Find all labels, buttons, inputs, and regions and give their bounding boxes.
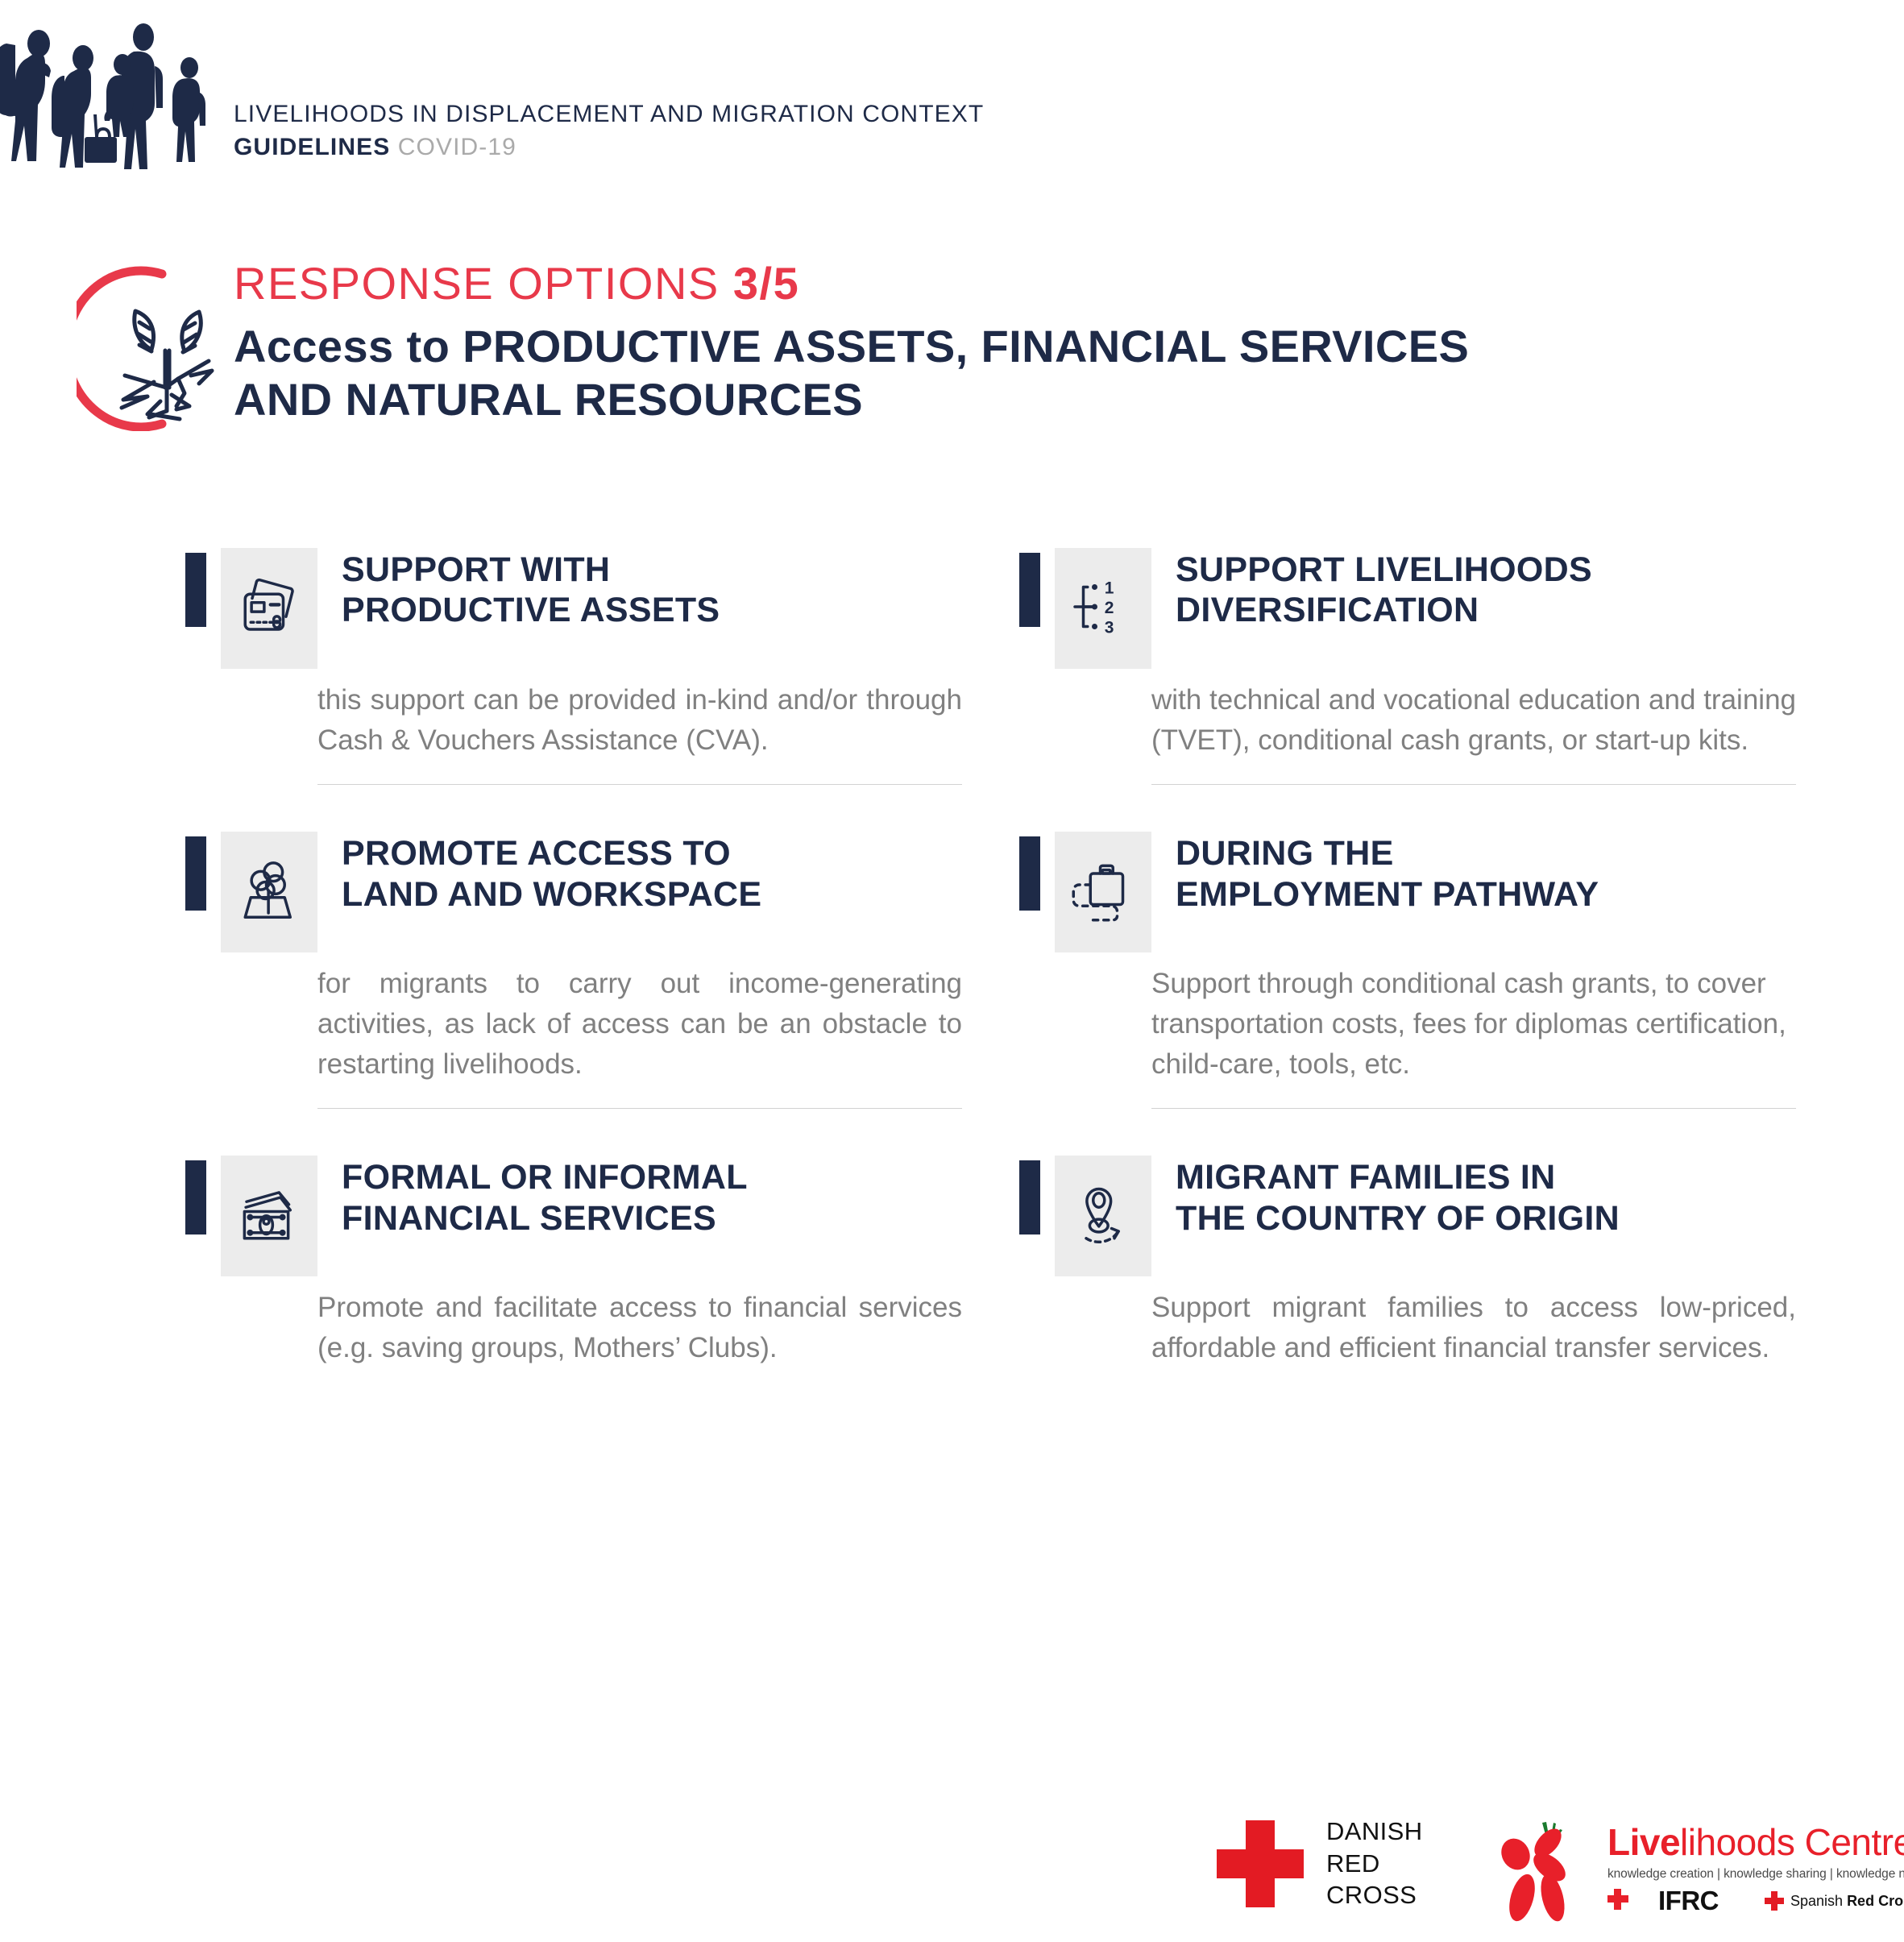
migrant-family-silhouette-icon <box>0 8 209 169</box>
spanish-red-cross-label: Spanish Red Cross <box>1790 1894 1904 1908</box>
page-header: LIVELIHOODS IN DISPLACEMENT AND MIGRATIO… <box>0 0 1904 185</box>
card-title-line-1: DURING THE <box>1176 833 1849 873</box>
card-formal-informal-financial-services: FORMAL OR INFORMAL FINANCIAL SERVICES Pr… <box>185 1156 1015 1367</box>
guidelines-label: GUIDELINES <box>234 134 390 160</box>
covid-label: COVID-19 <box>398 134 516 160</box>
card-title-line-1: PROMOTE ACCESS TO <box>342 833 1015 873</box>
header-guidelines-line: GUIDELINES COVID-19 <box>234 131 984 164</box>
card-icon-box <box>221 1156 317 1276</box>
header-title-block: LIVELIHOODS IN DISPLACEMENT AND MIGRATIO… <box>234 101 984 164</box>
tagline-sep-2: | <box>1827 1867 1836 1881</box>
response-options-kicker: RESPONSE OPTIONS 3/5 <box>234 258 1765 309</box>
accent-bar <box>1019 553 1040 627</box>
tree-on-land-icon <box>235 857 303 928</box>
livelihoods-centre-wordmark: Livelihoods Centre <box>1607 1824 1904 1861</box>
location-pin-arrow-icon <box>1069 1181 1137 1252</box>
card-title-line-2: LAND AND WORKSPACE <box>342 874 1015 915</box>
branching-diagram-123-icon: 1 2 3 <box>1069 573 1137 645</box>
page-footer: DANISH RED CROSS <box>0 1809 1904 1942</box>
red-cross-icon <box>1217 1820 1304 1907</box>
drc-line-1: DANISH <box>1326 1815 1423 1848</box>
card-title: FORMAL OR INFORMAL FINANCIAL SERVICES <box>342 1156 1015 1239</box>
tagline-part-1: knowledge creation <box>1607 1867 1714 1881</box>
tagline-sep-1: | <box>1714 1867 1724 1881</box>
seedling-with-roots-icon <box>77 266 226 431</box>
danish-red-cross-logo: DANISH RED CROSS <box>1217 1815 1423 1911</box>
svg-text:1: 1 <box>1105 579 1114 597</box>
card-header: FORMAL OR INFORMAL FINANCIAL SERVICES <box>185 1156 1015 1276</box>
src-label-part-1: Spanish <box>1790 1893 1847 1909</box>
card-title: DURING THE EMPLOYMENT PATHWAY <box>1176 832 1849 915</box>
banknotes-icon <box>235 1181 303 1252</box>
tagline-part-2: knowledge sharing <box>1724 1867 1827 1881</box>
livelihoods-word-bold: Live <box>1607 1821 1680 1863</box>
card-icon-box <box>221 548 317 669</box>
card-migrant-families-country-of-origin: MIGRANT FAMILIES IN THE COUNTRY OF ORIGI… <box>1019 1156 1849 1367</box>
ifrc-logo: IFRC <box>1607 1886 1719 1914</box>
card-title-line-2: EMPLOYMENT PATHWAY <box>1176 874 1849 915</box>
page-title-line-1: Access to PRODUCTIVE ASSETS, FINANCIAL S… <box>234 320 1765 373</box>
card-title-line-2: PRODUCTIVE ASSETS <box>342 590 1015 630</box>
card-header: MIGRANT FAMILIES IN THE COUNTRY OF ORIGI… <box>1019 1156 1849 1276</box>
accent-bar <box>185 553 206 627</box>
spanish-red-cross-logo: Spanish Red Cross <box>1765 1891 1904 1911</box>
credit-cards-icon <box>235 573 303 645</box>
briefcase-dashed-path-icon <box>1069 857 1137 928</box>
ifrc-label: IFRC <box>1658 1887 1719 1914</box>
card-title: PROMOTE ACCESS TO LAND AND WORKSPACE <box>342 832 1015 915</box>
left-column: SUPPORT WITH PRODUCTIVE ASSETS this supp… <box>185 548 1015 1368</box>
card-during-employment-pathway: DURING THE EMPLOYMENT PATHWAY Support th… <box>1019 832 1849 1156</box>
card-body-text: Support through conditional cash grants,… <box>1151 964 1796 1084</box>
card-header: SUPPORT WITH PRODUCTIVE ASSETS <box>185 548 1015 669</box>
card-promote-access-land-workspace: PROMOTE ACCESS TO LAND AND WORKSPACE for… <box>185 832 1015 1156</box>
card-body-text: this support can be provided in-kind and… <box>317 680 962 760</box>
card-body-text: Promote and facilitate access to financi… <box>317 1288 962 1367</box>
card-body-text: for migrants to carry out income-generat… <box>317 964 962 1084</box>
card-header: PROMOTE ACCESS TO LAND AND WORKSPACE <box>185 832 1015 952</box>
card-title-line-1: SUPPORT WITH <box>342 550 1015 590</box>
svg-text:2: 2 <box>1105 598 1114 616</box>
accent-bar <box>1019 836 1040 911</box>
section-title-block: RESPONSE OPTIONS 3/5 Access to PRODUCTIV… <box>0 258 1904 492</box>
accent-bar <box>185 836 206 911</box>
card-title-line-2: DIVERSIFICATION <box>1176 590 1849 630</box>
card-support-productive-assets: SUPPORT WITH PRODUCTIVE ASSETS this supp… <box>185 548 1015 832</box>
header-subtitle: LIVELIHOODS IN DISPLACEMENT AND MIGRATIO… <box>234 101 984 129</box>
card-title: SUPPORT LIVELIHOODS DIVERSIFICATION <box>1176 548 1849 631</box>
card-icon-box <box>1055 1156 1151 1276</box>
card-icon-box: 1 2 3 <box>1055 548 1151 669</box>
card-title-line-2: FINANCIAL SERVICES <box>342 1198 1015 1239</box>
card-title-line-1: SUPPORT LIVELIHOODS <box>1176 550 1849 590</box>
page-title: Access to PRODUCTIVE ASSETS, FINANCIAL S… <box>234 320 1765 426</box>
infographic-page: LIVELIHOODS IN DISPLACEMENT AND MIGRATIO… <box>0 0 1904 1942</box>
livelihoods-word-rest: lihoods Centre <box>1680 1821 1904 1863</box>
danish-red-cross-text: DANISH RED CROSS <box>1326 1815 1423 1911</box>
card-title: MIGRANT FAMILIES IN THE COUNTRY OF ORIGI… <box>1176 1156 1849 1239</box>
drc-line-2: RED <box>1326 1848 1423 1880</box>
accent-bar <box>1019 1160 1040 1234</box>
livelihoods-centre-logo: Livelihoods Centre knowledge creation | … <box>1487 1809 1873 1938</box>
livelihoods-centre-tagline: knowledge creation | knowledge sharing |… <box>1607 1867 1904 1882</box>
right-column: 1 2 3 SUPPORT LIVELIHOODS DIVERSIFICATIO… <box>1019 548 1849 1368</box>
svg-text:3: 3 <box>1105 618 1114 637</box>
card-icon-box <box>221 832 317 952</box>
card-body-text: with technical and vocational education … <box>1151 680 1796 760</box>
ifrc-cross-crescent-icon <box>1607 1886 1654 1914</box>
card-header: 1 2 3 SUPPORT LIVELIHOODS DIVERSIFICATIO… <box>1019 548 1849 669</box>
card-title-line-1: MIGRANT FAMILIES IN <box>1176 1157 1849 1197</box>
card-icon-box <box>1055 832 1151 952</box>
livelihoods-flower-icon <box>1487 1817 1599 1930</box>
src-label-part-2: Red Cross <box>1847 1893 1904 1909</box>
kicker-number: 3/5 <box>733 258 799 309</box>
section-title-text: RESPONSE OPTIONS 3/5 Access to PRODUCTIV… <box>234 258 1765 427</box>
kicker-label: RESPONSE OPTIONS <box>234 258 720 309</box>
card-title: SUPPORT WITH PRODUCTIVE ASSETS <box>342 548 1015 631</box>
card-support-livelihoods-diversification: 1 2 3 SUPPORT LIVELIHOODS DIVERSIFICATIO… <box>1019 548 1849 832</box>
card-title-line-1: FORMAL OR INFORMAL <box>342 1157 1015 1197</box>
card-body-text: Support migrant families to access low-p… <box>1151 1288 1796 1367</box>
spanish-red-cross-icon <box>1765 1891 1784 1911</box>
card-title-line-2: THE COUNTRY OF ORIGIN <box>1176 1198 1849 1239</box>
card-header: DURING THE EMPLOYMENT PATHWAY <box>1019 832 1849 952</box>
tagline-part-3: knowledge networking <box>1836 1867 1904 1881</box>
accent-bar <box>185 1160 206 1234</box>
drc-line-3: CROSS <box>1326 1879 1423 1911</box>
page-title-line-2: AND NATURAL RESOURCES <box>234 373 1765 426</box>
